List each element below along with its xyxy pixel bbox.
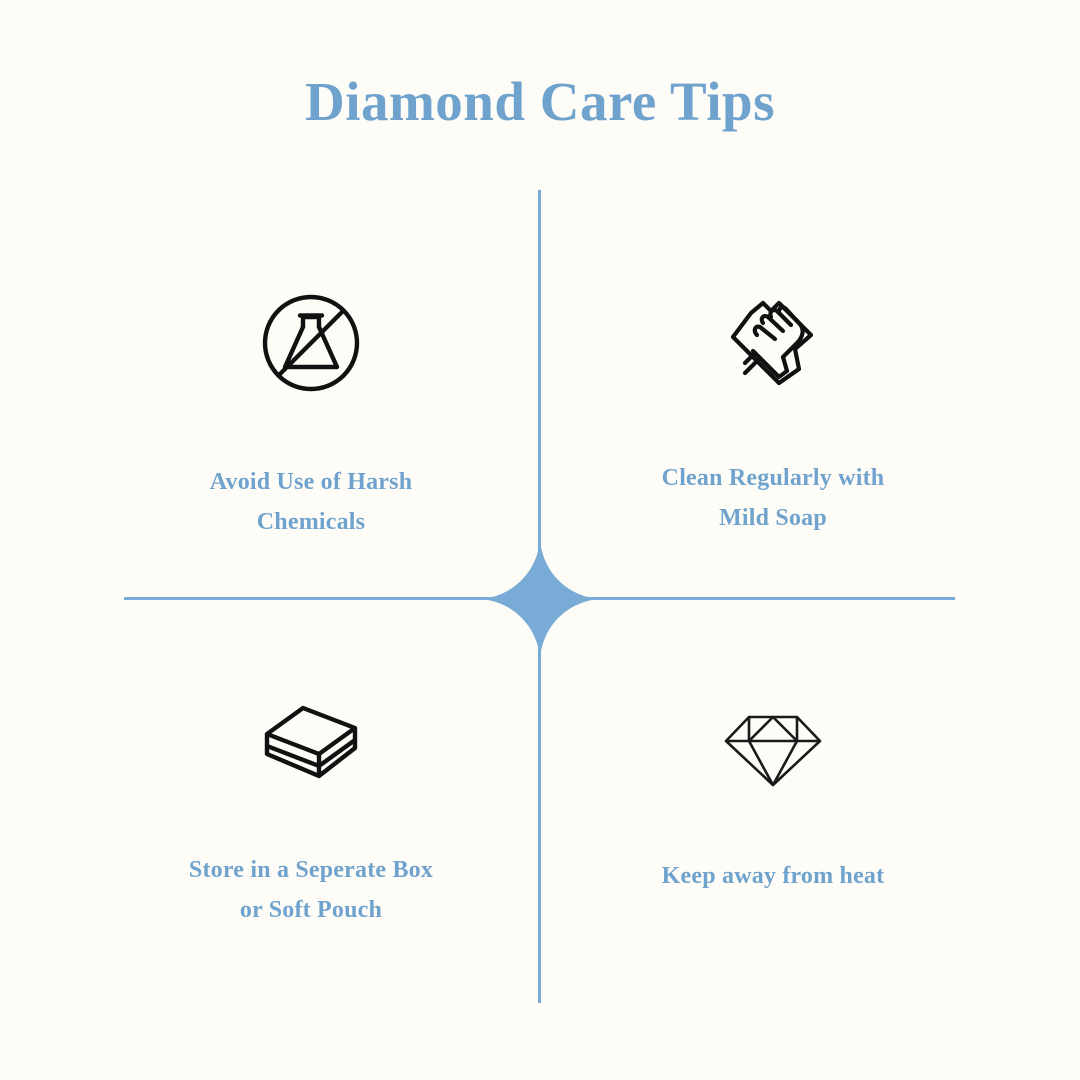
tip-label-line1: Store in a Seperate Box <box>189 850 433 890</box>
tip-label-line1: Clean Regularly with <box>662 458 885 498</box>
tip-label: Keep away from heat <box>662 856 885 896</box>
tip-label-line2: or Soft Pouch <box>189 890 433 930</box>
tip-card-store-separately: Store in a Seperate Box or Soft Pouch <box>96 690 526 931</box>
tip-label-line2: Mild Soap <box>662 498 885 538</box>
tip-label: Store in a Seperate Box or Soft Pouch <box>189 850 433 931</box>
tip-card-clean-with-mild-soap: Clean Regularly with Mild Soap <box>558 288 988 539</box>
tip-label: Clean Regularly with Mild Soap <box>662 458 885 539</box>
sparkle-icon <box>481 540 599 658</box>
tip-label: Avoid Use of Harsh Chemicals <box>210 462 413 543</box>
tip-card-keep-away-from-heat: Keep away from heat <box>558 690 988 896</box>
tip-card-avoid-harsh-chemicals: Avoid Use of Harsh Chemicals <box>96 288 526 543</box>
infographic-canvas: Diamond Care Tips Avoid Use of Harsh Che… <box>0 0 1080 1080</box>
page-title: Diamond Care Tips <box>0 72 1080 133</box>
tip-label-line2: Chemicals <box>210 502 413 542</box>
no-chemicals-icon <box>251 288 371 398</box>
diamond-icon <box>713 690 833 800</box>
tip-label-line1: Keep away from heat <box>662 856 885 896</box>
tip-label-line1: Avoid Use of Harsh <box>210 462 413 502</box>
storage-box-icon <box>251 690 371 800</box>
wiping-cloth-icon <box>713 288 833 398</box>
